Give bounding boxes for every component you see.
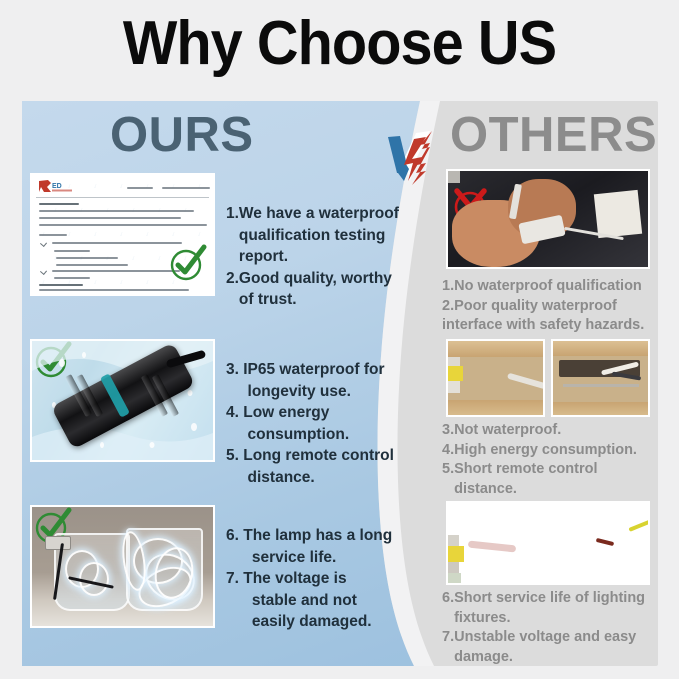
others-line: damage. [442, 648, 658, 668]
others-row-2-image [446, 339, 650, 417]
svg-text:✓: ✓ [93, 279, 100, 286]
ours-line: distance. [226, 467, 416, 489]
ours-line: 3. IP65 waterproof for [226, 359, 416, 381]
svg-text:✓: ✓ [171, 231, 178, 238]
others-line: 3.Not waterproof. [442, 421, 658, 441]
svg-text:✓: ✓ [93, 231, 100, 238]
ours-line: 5. Long remote control [226, 445, 416, 467]
others-line: 4.High energy consumption. [442, 441, 658, 461]
damaged-led-channel-photo-a [446, 339, 545, 417]
others-line: 5.Short remote control [442, 460, 658, 480]
svg-text:✓: ✓ [157, 255, 164, 262]
others-line: 7.Unstable voltage and easy [442, 628, 658, 648]
ours-line: stable and not [226, 590, 416, 612]
ours-line: 2.Good quality, worthy [226, 268, 416, 290]
ours-line: consumption. [226, 424, 416, 446]
others-line: 1.No waterproof qualification [442, 277, 658, 297]
others-row-2-text: 3.Not waterproof. 4.High energy consumpt… [442, 421, 658, 499]
ours-row-1-image: ✓ ✓✓ ✓✓ ✓✓ ✓ ✓✓ ✓✓ ✓✓ ✓✓ ✓✓ [30, 173, 215, 296]
others-line: distance. [442, 480, 658, 500]
svg-text:✓: ✓ [119, 183, 126, 190]
led-driver [45, 536, 71, 550]
ours-line: 1.We have a waterproof [226, 203, 416, 225]
ours-row-3-text: 6. The lamp has a long service life. 7. … [226, 525, 416, 633]
ours-row-2-image [30, 339, 215, 462]
waterproof-connector-photo [32, 341, 213, 460]
others-row-3-text: 6.Short service life of lighting fixture… [442, 589, 658, 667]
others-heading: OTHERS [450, 109, 657, 161]
others-row-1-image [446, 169, 650, 269]
ours-line: service life. [226, 547, 416, 569]
ours-line: of trust. [226, 289, 416, 311]
svg-text:ED: ED [52, 183, 62, 190]
ours-row-2-text: 3. IP65 waterproof for longevity use. 4.… [226, 359, 416, 488]
ours-line: qualification testing [226, 225, 416, 247]
others-row-3-image [446, 501, 650, 585]
page-title: Why Choose US [24, 8, 655, 80]
ours-row-3-image [30, 505, 215, 628]
ours-heading: OURS [110, 109, 254, 161]
ours-line: 4. Low energy [226, 402, 416, 424]
submerged-led-strip-photo [32, 507, 213, 626]
green-check-icon [167, 244, 207, 284]
svg-text:✓: ✓ [119, 279, 126, 286]
comparison-board: OURS OTHERS ✓ [22, 101, 658, 666]
infographic-root: Why Choose US OURS OTHERS [0, 0, 679, 679]
red-lab-logo-icon: ED [38, 179, 80, 194]
ours-line: report. [226, 246, 416, 268]
others-line: 2.Poor quality waterproof [442, 297, 658, 317]
others-line: fixtures. [442, 609, 658, 629]
svg-text:✓: ✓ [93, 183, 100, 190]
others-line: 6.Short service life of lighting [442, 589, 658, 609]
ours-row-1-text: 1.We have a waterproof qualification tes… [226, 203, 416, 311]
svg-text:✓: ✓ [145, 279, 152, 286]
svg-text:✓: ✓ [145, 231, 152, 238]
vs-badge-icon [386, 129, 452, 185]
faulty-light-fixture-photo [448, 503, 648, 585]
ours-line: easily damaged. [226, 611, 416, 633]
test-report-document: ✓ ✓✓ ✓✓ ✓✓ ✓ ✓✓ ✓✓ ✓✓ ✓✓ ✓✓ [32, 175, 213, 294]
svg-text:✓: ✓ [131, 255, 138, 262]
svg-text:✓: ✓ [67, 231, 74, 238]
wire-loop [448, 503, 478, 535]
svg-text:✓: ✓ [197, 231, 204, 238]
svg-text:✓: ✓ [119, 231, 126, 238]
others-line: interface with safety hazards. [442, 316, 658, 336]
taped-wire-splice-photo [448, 171, 648, 267]
ours-line: 7. The voltage is [226, 568, 416, 590]
ours-line: longevity use. [226, 381, 416, 403]
white-panel [594, 190, 642, 239]
damaged-led-channel-photo-b [551, 339, 650, 417]
others-row-1-text: 1.No waterproof qualification 2.Poor qua… [442, 277, 658, 336]
ours-line: 6. The lamp has a long [226, 525, 416, 547]
